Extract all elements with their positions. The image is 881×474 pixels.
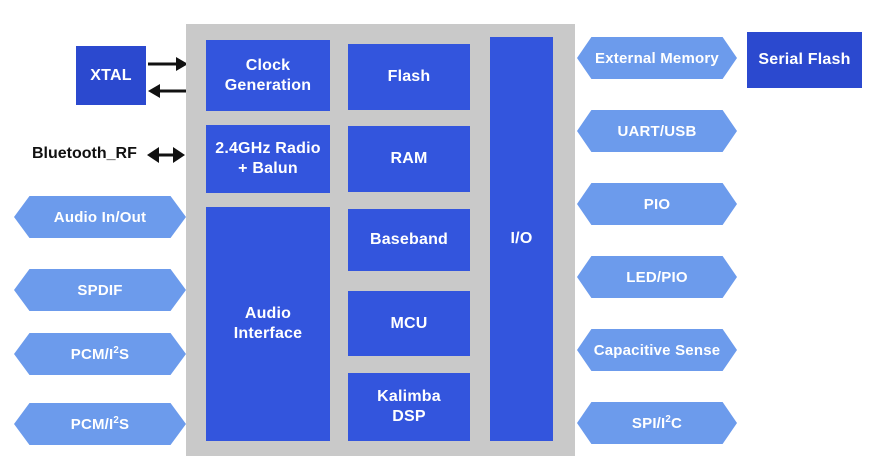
left-interface-label: Audio In/Out [54, 209, 146, 226]
soc-block-io[interactable]: I/O [490, 37, 553, 441]
left-interface-arrow-pcm-i2s-1[interactable]: PCM/I2S [14, 333, 186, 375]
right-interface-label: Capacitive Sense [594, 342, 721, 359]
bluetooth-rf-label: Bluetooth_RF [32, 145, 137, 163]
left-interface-label: SPDIF [77, 282, 122, 299]
left-interface-label: PCM/I2S [71, 416, 130, 433]
soc-block-mcu[interactable]: MCU [348, 291, 470, 356]
block-label: Baseband [370, 230, 448, 250]
xtal-connector-in [148, 84, 188, 98]
bluetooth-rf-label-wrap: Bluetooth_RF [32, 144, 185, 164]
block-label: Kalimba DSP [377, 387, 441, 427]
right-interface-arrow-external-memory[interactable]: External Memory [577, 37, 737, 79]
right-interface-arrow-uart-usb[interactable]: UART/USB [577, 110, 737, 152]
soc-block-ram[interactable]: RAM [348, 126, 470, 192]
right-interface-label: External Memory [595, 50, 719, 67]
block-diagram-canvas: XTAL Bluetooth_RF Audio In/Out SPDIF PCM [0, 0, 881, 474]
block-label: Flash [388, 67, 431, 87]
right-interface-label: UART/USB [617, 123, 696, 140]
xtal-connector-out [148, 57, 188, 71]
block-label: 2.4GHz Radio + Balun [215, 139, 321, 179]
soc-block-clock-generation[interactable]: Clock Generation [206, 40, 330, 111]
left-interface-label: PCM/I2S [71, 346, 130, 363]
block-label: Clock Generation [225, 56, 311, 96]
xtal-label: XTAL [90, 66, 131, 86]
soc-block-kalimba-dsp[interactable]: Kalimba DSP [348, 373, 470, 441]
serial-flash-label: Serial Flash [758, 50, 850, 70]
right-interface-arrow-capacitive-sense[interactable]: Capacitive Sense [577, 329, 737, 371]
left-interface-arrow-pcm-i2s-2[interactable]: PCM/I2S [14, 403, 186, 445]
xtal-block[interactable]: XTAL [76, 46, 146, 105]
soc-block-audio-interface[interactable]: Audio Interface [206, 207, 330, 441]
block-label: MCU [390, 314, 427, 334]
block-label: I/O [511, 229, 533, 249]
soc-block-radio-balun[interactable]: 2.4GHz Radio + Balun [206, 125, 330, 193]
block-label: RAM [390, 149, 427, 169]
bluetooth-rf-bidirectional-arrow-icon [147, 147, 185, 163]
right-interface-label: SPI/I2C [632, 415, 682, 432]
right-interface-arrow-pio[interactable]: PIO [577, 183, 737, 225]
soc-block-flash[interactable]: Flash [348, 44, 470, 110]
block-label: Audio Interface [234, 304, 303, 344]
right-interface-label: PIO [644, 196, 670, 213]
right-interface-arrow-spi-i2c[interactable]: SPI/I2C [577, 402, 737, 444]
right-interface-arrow-led-pio[interactable]: LED/PIO [577, 256, 737, 298]
left-interface-arrow-audio-in-out[interactable]: Audio In/Out [14, 196, 186, 238]
serial-flash-block[interactable]: Serial Flash [747, 32, 862, 88]
right-interface-label: LED/PIO [626, 269, 687, 286]
soc-block-baseband[interactable]: Baseband [348, 209, 470, 271]
left-interface-arrow-spdif[interactable]: SPDIF [14, 269, 186, 311]
